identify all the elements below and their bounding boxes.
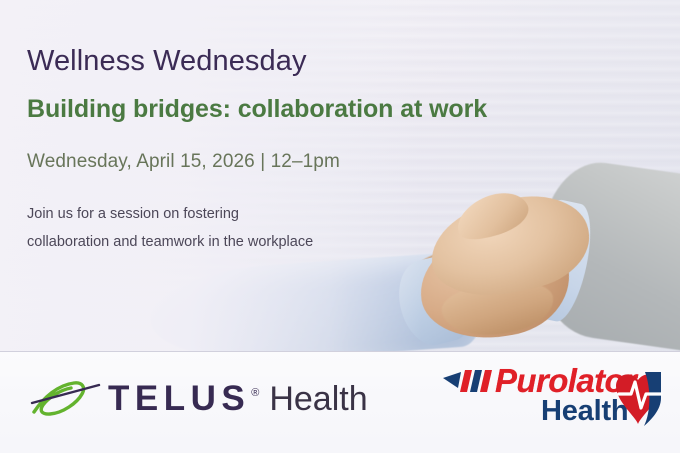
wellness-wednesday-promo-banner: Wellness Wednesday Building bridges: col… [0,0,680,453]
purolator-health-logo: Purolator Health [443,364,668,438]
logo-footer-bar: TELUS ® Health Purolator Health [0,351,680,453]
telus-swoosh-mark [30,373,104,423]
telus-brand-name: TELUS [108,381,250,416]
purolator-chevron-mark [443,368,501,394]
event-description-line-1: Join us for a session on fostering [27,200,497,228]
telus-product-name: Health [269,382,367,416]
banner-copy: Wellness Wednesday Building bridges: col… [27,44,497,257]
registered-trademark-icon: ® [251,387,259,399]
event-description-line-2: collaboration and teamwork in the workpl… [27,228,497,256]
event-datetime: Wednesday, April 15, 2026 | 12–1pm [27,150,497,174]
series-title: Wellness Wednesday [27,44,497,78]
purolator-heart-pulse-emblem [611,368,671,430]
telus-wordmark: TELUS ® Health [108,381,368,416]
telus-health-logo: TELUS ® Health [30,370,368,426]
session-title: Building bridges: collaboration at work [27,94,497,124]
event-description: Join us for a session on fostering colla… [27,200,497,257]
